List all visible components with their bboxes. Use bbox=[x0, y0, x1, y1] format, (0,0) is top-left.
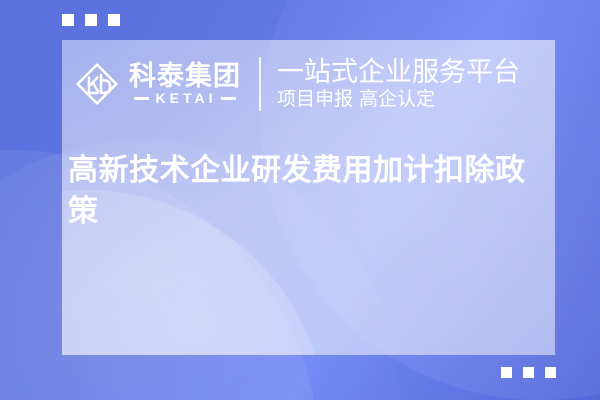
brand-wordmark: 科泰集团 KETAI bbox=[129, 63, 241, 105]
banner-header: 科泰集团 KETAI 一站式企业服务平台 项目申报 高企认定 bbox=[72, 48, 545, 120]
slogan-secondary: 项目申报 高企认定 bbox=[277, 89, 520, 110]
decor-squares-bottom-right bbox=[501, 367, 556, 378]
dash-left-icon bbox=[134, 97, 149, 100]
slogan-primary: 一站式企业服务平台 bbox=[277, 58, 520, 87]
decor-square bbox=[62, 14, 74, 26]
vertical-divider bbox=[259, 57, 261, 111]
decor-square bbox=[545, 367, 556, 378]
decor-square bbox=[85, 14, 97, 26]
decor-square bbox=[523, 367, 534, 378]
decor-square bbox=[501, 367, 512, 378]
policy-banner: 科泰集团 KETAI 一站式企业服务平台 项目申报 高企认定 高新技术企业研发费… bbox=[0, 0, 600, 400]
content-card: 科泰集团 KETAI 一站式企业服务平台 项目申报 高企认定 高新技术企业研发费… bbox=[62, 40, 555, 355]
brand-name-cn: 科泰集团 bbox=[129, 63, 241, 90]
brand-name-en: KETAI bbox=[154, 91, 217, 105]
dash-right-icon bbox=[221, 97, 236, 100]
decor-squares-top-left bbox=[62, 14, 120, 26]
slogan-block: 一站式企业服务平台 项目申报 高企认定 bbox=[277, 58, 520, 110]
brand-name-en-row: KETAI bbox=[134, 91, 237, 105]
brand-logo: 科泰集团 KETAI bbox=[72, 61, 241, 107]
page-title: 高新技术企业研发费用加计扣除政策 bbox=[68, 150, 543, 233]
decor-square bbox=[108, 14, 120, 26]
ketai-diamond-kd-logo-icon bbox=[74, 61, 120, 107]
